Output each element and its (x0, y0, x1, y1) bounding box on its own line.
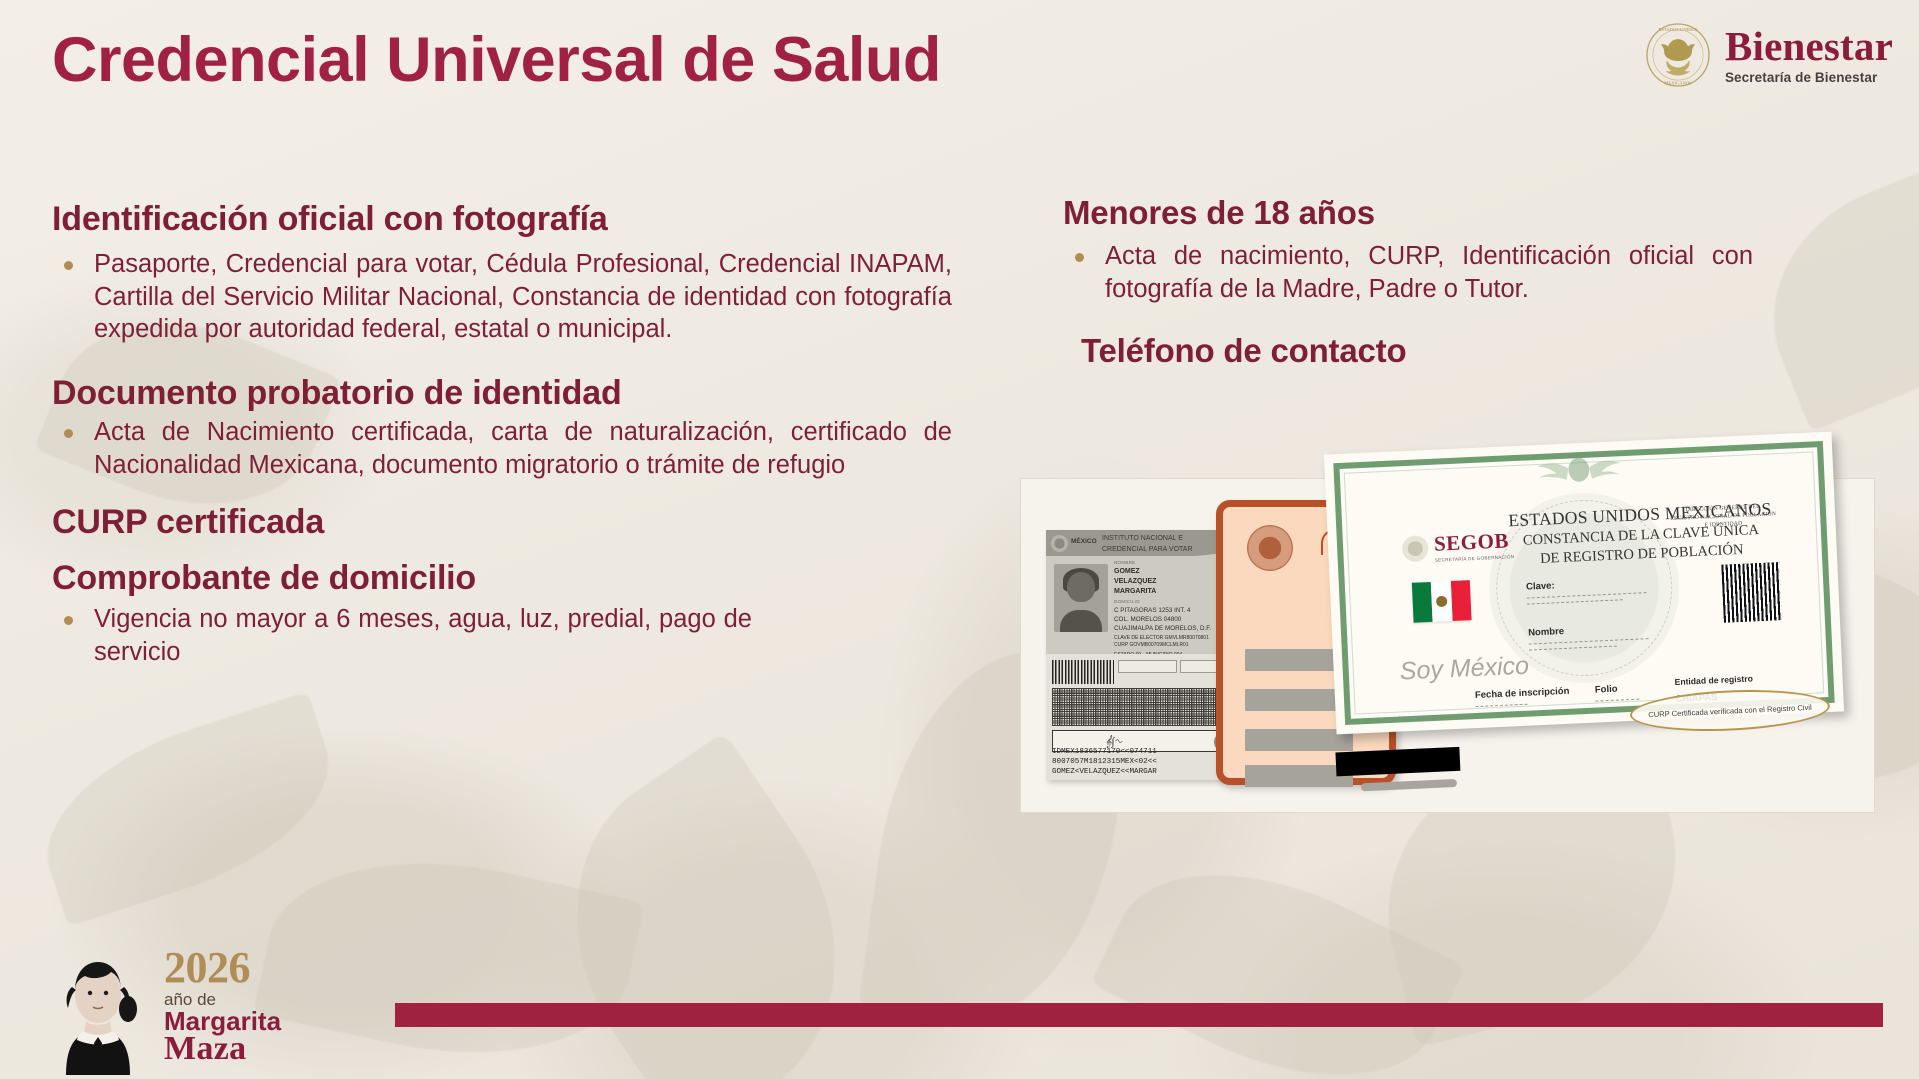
ine-name-line1: GOMEZ (1114, 567, 1211, 577)
barcode-icon (1052, 660, 1114, 684)
footer-year: 2026 (164, 946, 281, 989)
ine-curp: CURP GOVMB00709MCLMLR01 (1114, 642, 1211, 649)
list-item: Acta de nacimiento, CURP, Identificación… (1063, 240, 1753, 305)
ine-address-line1: C PITAGORAS 1253 INT. 4 (1114, 606, 1211, 615)
bullet-list-identificacion: Pasaporte, Credencial para votar, Cédula… (52, 248, 952, 346)
bullet-list-comprobante: Vigencia no mayor a 6 meses, agua, luz, … (52, 603, 752, 668)
svg-text:MEXICANOS: MEXICANOS (1664, 81, 1692, 86)
curp-label-folio: Folio (1595, 684, 1618, 696)
curp-label-fecha: Fecha de inscripción (1475, 686, 1570, 701)
ine-institute-line2: CREDENCIAL PARA VOTAR (1102, 545, 1193, 556)
section-heading-telefono: Teléfono de contacto (1081, 333, 1783, 370)
ine-label-domicilio: DOMICILIO (1114, 599, 1211, 606)
ine-address-line2: COL. MORELOS 04800 (1114, 615, 1211, 624)
list-item: Vigencia no mayor a 6 meses, agua, luz, … (52, 603, 752, 668)
eagle-crest-icon (1530, 449, 1627, 487)
footer-accent-bar (395, 1003, 1883, 1027)
mexican-coat-of-arms-icon (1247, 525, 1293, 571)
curp-certificate-image: SEGOB SECRETARÍA DE GOBERNACIÓN Soy Méxi… (1324, 432, 1844, 735)
section-heading-comprobante: Comprobante de domicilio (52, 559, 952, 597)
ine-label-nombre: NOMBRE (1114, 560, 1211, 567)
brand-subtitle: Secretaría de Bienestar (1725, 71, 1893, 85)
section-heading-identificacion: Identificación oficial con fotografía (52, 200, 952, 238)
footer-name-last: Maza (164, 1032, 281, 1065)
section-heading-documento-probatorio: Documento probatorio de identidad (52, 374, 952, 412)
curp-watermark-text: Soy México (1399, 652, 1529, 687)
mexican-coat-of-arms-icon (1402, 535, 1429, 562)
right-content-column: Menores de 18 años Acta de nacimiento, C… (1063, 195, 1783, 370)
bullet-list-documento-probatorio: Acta de Nacimiento certificada, carta de… (52, 416, 952, 481)
curp-label-nombre: Nombre (1528, 626, 1564, 639)
section-heading-curp: CURP certificada (52, 503, 952, 541)
brand-name: Bienestar (1725, 26, 1893, 67)
mexican-flag-icon (1412, 580, 1472, 623)
list-item: Acta de Nacimiento certificada, carta de… (52, 416, 952, 481)
curp-field-fecha: Fecha de inscripción (1475, 686, 1570, 707)
list-item: Pasaporte, Credencial para votar, Cédula… (52, 248, 952, 346)
margarita-maza-footer-logo: 2026 año de Margarita Maza (46, 946, 281, 1075)
ine-mrz: IDMEX1836577170<<074711 8007057M1812315M… (1052, 747, 1157, 777)
ine-address-line3: CUAJIMALPA DE MORELOS, D.F. (1114, 624, 1211, 633)
ine-clave-elector: CLAVE DE ELECTOR GMVLMR80070801 (1114, 635, 1211, 642)
left-content-column: Identificación oficial con fotografía Pa… (52, 200, 952, 669)
page-title: Credencial Universal de Salud (52, 24, 941, 96)
curp-label-clave: Clave: (1526, 580, 1555, 592)
curp-label-entidad: Entidad de registro (1674, 673, 1753, 687)
margarita-maza-portrait-icon (46, 947, 150, 1075)
qr-code-icon (1721, 562, 1782, 623)
svg-text:ESTADOS UNIDOS: ESTADOS UNIDOS (1658, 27, 1697, 32)
ine-name-line3: MARGARITA (1114, 587, 1211, 597)
mexican-coat-of-arms-icon (1051, 535, 1068, 552)
curp-field-folio: Folio (1595, 683, 1640, 702)
ine-institute-line1: INSTITUTO NACIONAL E (1102, 534, 1193, 545)
ine-name-line2: VELAZQUEZ (1114, 577, 1211, 587)
section-heading-menores: Menores de 18 años (1063, 195, 1783, 232)
bienestar-logo: ESTADOS UNIDOS MEXICANOS Bienestar Secre… (1645, 22, 1893, 88)
ine-portrait-photo (1054, 564, 1108, 632)
pdf417-code-icon (1052, 688, 1238, 726)
ine-country: MÉXICO (1071, 538, 1097, 545)
mexican-coat-of-arms-icon: ESTADOS UNIDOS MEXICANOS (1645, 22, 1711, 88)
bullet-list-menores: Acta de nacimiento, CURP, Identificación… (1063, 240, 1753, 305)
documents-collage: MÉXICO INSTITUTO NACIONAL E CREDENCIAL P… (1020, 478, 1875, 818)
